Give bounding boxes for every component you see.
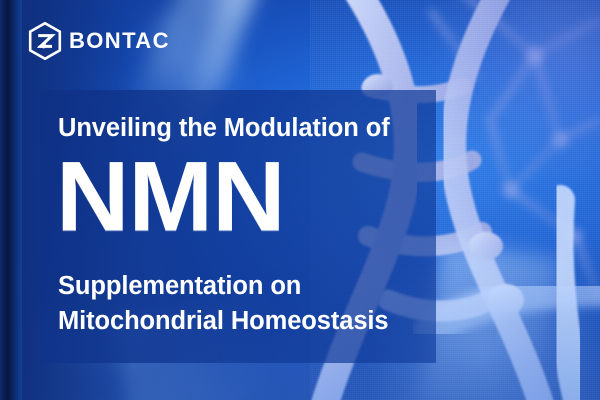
headline-emphasis-nmn: NMN <box>56 148 285 247</box>
background-edge-stripe <box>0 0 22 400</box>
headline-panel: Unveiling the Modulation of NMN Suppleme… <box>40 90 436 363</box>
brand-wordmark: BONTAC <box>69 30 170 52</box>
headline-line-3: Supplementation on <box>58 272 301 301</box>
nmn-promotional-banner: BONTAC Unveiling the Modulation of NMN S… <box>0 0 600 400</box>
headline-line-4: Mitochondrial Homeostasis <box>58 307 388 336</box>
headline-line-1: Unveiling the Modulation of <box>58 114 390 143</box>
bontac-logo: BONTAC <box>28 22 170 60</box>
hexagon-z-logo-icon <box>28 22 62 60</box>
